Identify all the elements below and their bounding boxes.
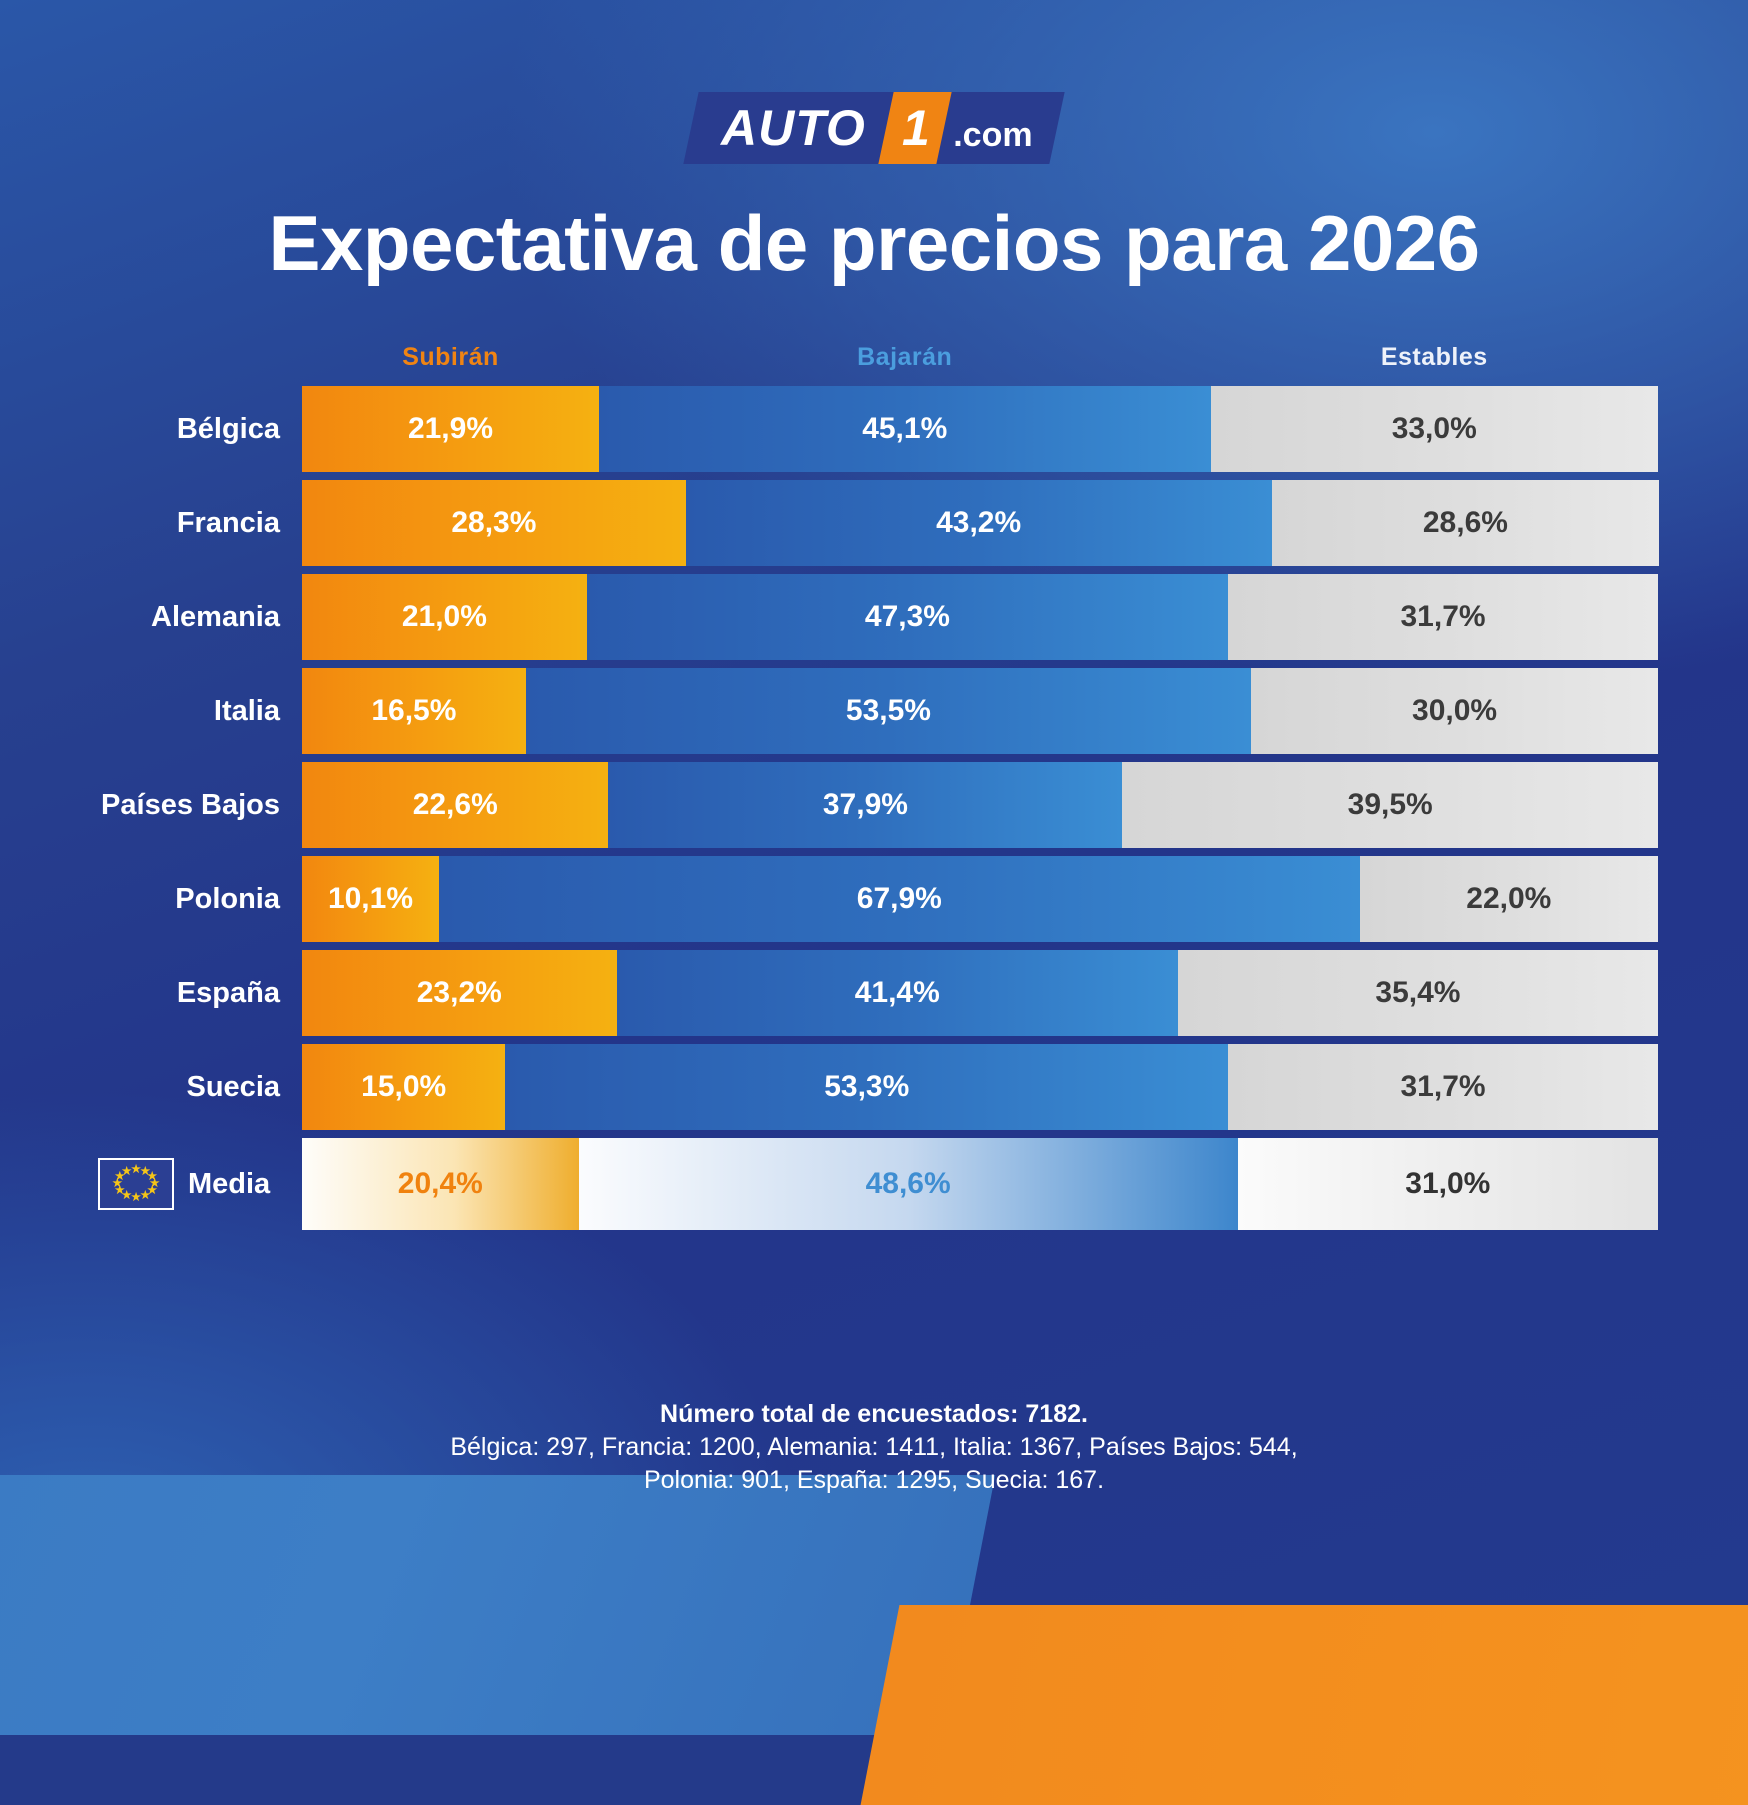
row-label-suecia: Suecia (90, 1044, 302, 1130)
row-label-text: Alemania (151, 601, 280, 634)
bar-segment-up: 23,2% (302, 950, 617, 1036)
bar-segment-stable: 39,5% (1122, 762, 1658, 848)
row-bar-group: 21,0%47,3%31,7% (302, 574, 1658, 660)
bar-segment-down: 53,3% (505, 1044, 1228, 1130)
bar-segment-up: 21,0% (302, 574, 587, 660)
row-label-francia: Francia (90, 480, 302, 566)
chart-row: España23,2%41,4%35,4% (90, 950, 1658, 1036)
logo-auto-block: AUTO (683, 92, 895, 164)
chart-row: Polonia10,1%67,9%22,0% (90, 856, 1658, 942)
bar-segment-up: 28,3% (302, 480, 686, 566)
row-label-media: ★★★★★★★★★★★★Media (90, 1138, 302, 1230)
row-bar-group: 10,1%67,9%22,0% (302, 856, 1658, 942)
bar-segment-up: 21,9% (302, 386, 599, 472)
eu-flag-icon: ★★★★★★★★★★★★ (98, 1158, 174, 1210)
bar-segment-stable: 31,0% (1238, 1138, 1658, 1230)
legend-labels: Subirán Bajarán Estables (302, 343, 1658, 372)
brand-logo: AUTO 1 .com (0, 92, 1748, 164)
bar-segment-stable: 22,0% (1360, 856, 1658, 942)
row-label-alemania: Alemania (90, 574, 302, 660)
logo-dotcom-block: .com (936, 92, 1065, 164)
footer-total-line: Número total de encuestados: 7182. (0, 1400, 1748, 1429)
logo-auto-text: AUTO (721, 103, 866, 153)
row-bar-group: 28,3%43,2%28,6% (302, 480, 1658, 566)
row-bar-group: 22,6%37,9%39,5% (302, 762, 1658, 848)
chart-row: Suecia15,0%53,3%31,7% (90, 1044, 1658, 1130)
chart-row-average: ★★★★★★★★★★★★Media20,4%48,6%31,0% (90, 1138, 1658, 1230)
legend-label-up: Subirán (302, 343, 599, 372)
bar-segment-up: 15,0% (302, 1044, 505, 1130)
legend-label-stable: Estables (1211, 343, 1658, 372)
legend-label-down: Bajarán (599, 343, 1211, 372)
chart-row: Bélgica21,9%45,1%33,0% (90, 386, 1658, 472)
row-label-polonia: Polonia (90, 856, 302, 942)
row-bar-group: 16,5%53,5%30,0% (302, 668, 1658, 754)
row-label-italia: Italia (90, 668, 302, 754)
bar-segment-stable: 28,6% (1272, 480, 1660, 566)
bar-segment-down: 67,9% (439, 856, 1360, 942)
footer-breakdown-2: Polonia: 901, España: 1295, Suecia: 167. (0, 1464, 1748, 1497)
bar-segment-down: 43,2% (686, 480, 1272, 566)
bar-segment-up: 10,1% (302, 856, 439, 942)
chart-row: Francia28,3%43,2%28,6% (90, 480, 1658, 566)
bar-segment-stable: 30,0% (1251, 668, 1658, 754)
bar-segment-up: 20,4% (302, 1138, 579, 1230)
row-label-text: Polonia (175, 883, 280, 916)
row-label-text: Media (188, 1168, 270, 1201)
bar-segment-up: 16,5% (302, 668, 526, 754)
logo-one-text: 1 (902, 103, 930, 153)
footer-note: Número total de encuestados: 7182. Bélgi… (0, 1400, 1748, 1497)
bar-segment-down: 47,3% (587, 574, 1228, 660)
row-label-bélgica: Bélgica (90, 386, 302, 472)
bar-segment-stable: 31,7% (1228, 1044, 1658, 1130)
page-title: Expectativa de precios para 2026 (0, 198, 1748, 289)
bar-segment-down: 45,1% (599, 386, 1211, 472)
row-bar-group: 23,2%41,4%35,4% (302, 950, 1658, 1036)
row-label-text: España (177, 977, 280, 1010)
chart-container: Subirán Bajarán Estables Bélgica21,9%45,… (90, 332, 1658, 1230)
row-bar-group: 21,9%45,1%33,0% (302, 386, 1658, 472)
bar-segment-down: 41,4% (617, 950, 1178, 1036)
chart-legend-header: Subirán Bajarán Estables (90, 332, 1658, 382)
bar-segment-down: 48,6% (579, 1138, 1238, 1230)
bar-segment-stable: 31,7% (1228, 574, 1658, 660)
chart-row: Italia16,5%53,5%30,0% (90, 668, 1658, 754)
footer-breakdown-1: Bélgica: 297, Francia: 1200, Alemania: 1… (0, 1431, 1748, 1464)
bar-segment-down: 37,9% (608, 762, 1122, 848)
row-bar-group: 20,4%48,6%31,0% (302, 1138, 1658, 1230)
logo-dotcom-text: .com (953, 118, 1032, 164)
chart-row: Alemania21,0%47,3%31,7% (90, 574, 1658, 660)
row-label-países-bajos: Países Bajos (90, 762, 302, 848)
row-label-españa: España (90, 950, 302, 1036)
chart-row: Países Bajos22,6%37,9%39,5% (90, 762, 1658, 848)
row-label-text: Italia (214, 695, 280, 728)
bar-segment-stable: 35,4% (1178, 950, 1658, 1036)
row-label-text: Bélgica (177, 413, 280, 446)
bar-segment-up: 22,6% (302, 762, 608, 848)
bar-segment-stable: 33,0% (1211, 386, 1658, 472)
row-bar-group: 15,0%53,3%31,7% (302, 1044, 1658, 1130)
bar-segment-down: 53,5% (526, 668, 1251, 754)
chart-rows: Bélgica21,9%45,1%33,0%Francia28,3%43,2%2… (90, 386, 1658, 1230)
row-label-text: Países Bajos (101, 789, 280, 822)
row-label-text: Suecia (187, 1071, 281, 1104)
infographic-page: AUTO 1 .com Expectativa de precios para … (0, 0, 1748, 1654)
row-label-text: Francia (177, 507, 280, 540)
